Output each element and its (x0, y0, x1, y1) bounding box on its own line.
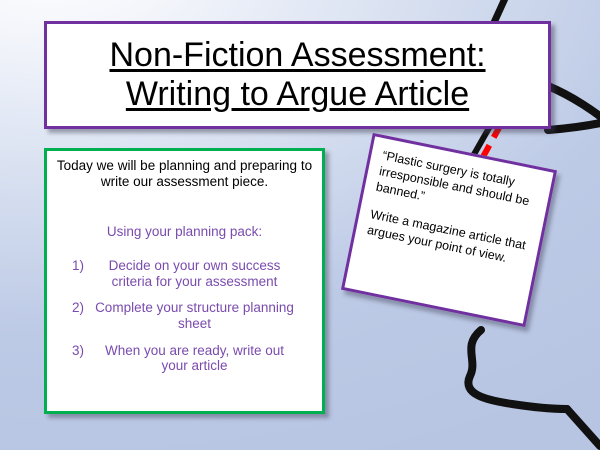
right-arrow-stroke-icon (548, 86, 600, 126)
page-title-line-1: Non-Fiction Assessment: (109, 36, 485, 75)
list-item: 3) When you are ready, write out your ar… (56, 343, 313, 374)
task-step-text: Complete your structure planning sheet (92, 300, 297, 331)
bottom-right-stroke-tail-icon (567, 409, 600, 446)
slide-title-box: Non-Fiction Assessment: Writing to Argue… (44, 21, 551, 129)
task-step-list: 1) Decide on your own success criteria f… (56, 258, 313, 374)
slide-canvas: Non-Fiction Assessment: Writing to Argue… (0, 0, 600, 450)
list-item: 1) Decide on your own success criteria f… (56, 258, 313, 289)
task-step-number: 2) (72, 300, 84, 316)
right-arrow-stroke-lower-icon (548, 120, 600, 130)
task-subhead-text: Using your planning pack: (56, 224, 313, 240)
task-instructions-box: Today we will be planning and preparing … (44, 148, 325, 414)
task-step-text: Decide on your own success criteria for … (92, 258, 297, 289)
task-step-number: 3) (72, 343, 84, 359)
list-item: 2) Complete your structure planning shee… (56, 300, 313, 331)
task-intro-text: Today we will be planning and preparing … (56, 158, 313, 190)
bottom-right-stroke-icon (468, 330, 567, 409)
page-title-line-2: Writing to Argue Article (126, 75, 469, 114)
task-step-text: When you are ready, write out your artic… (92, 343, 297, 374)
task-step-number: 1) (72, 258, 84, 274)
assessment-prompt-box: “Plastic surgery is totally irresponsibl… (341, 133, 557, 327)
